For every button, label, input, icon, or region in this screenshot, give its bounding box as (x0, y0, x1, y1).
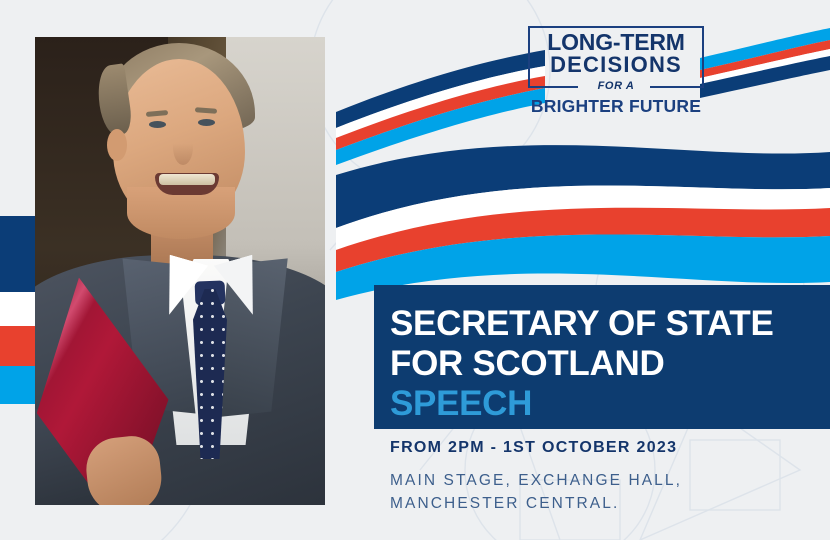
title-line-3: SPEECH (390, 386, 532, 421)
announcement-graphic: LONG-TERM DECISIONS FOR A BRIGHTER FUTUR… (0, 0, 830, 540)
photo-eye-right (198, 119, 215, 126)
event-venue-line-2: MANCHESTER CENTRAL. (390, 492, 682, 515)
event-time-date: FROM 2PM - 1ST OCTOBER 2023 (390, 440, 682, 456)
title-line-1: SECRETARY OF STATE (390, 306, 774, 341)
ribbon-upper-right (700, 28, 830, 98)
ribbon-centre-main (336, 145, 830, 300)
photo-nose (173, 129, 193, 165)
speaker-portrait-photo (35, 37, 325, 505)
title-line-2: FOR SCOTLAND (390, 346, 664, 381)
photo-teeth (159, 174, 215, 185)
logo-line-1: LONG-TERM (528, 31, 704, 54)
logo-connector: FOR A (528, 81, 704, 92)
photo-ear (107, 129, 127, 161)
photo-mouth (155, 173, 219, 195)
event-details: FROM 2PM - 1ST OCTOBER 2023 MAIN STAGE, … (390, 440, 682, 516)
event-venue-line-1: MAIN STAGE, EXCHANGE HALL, (390, 469, 682, 492)
campaign-logo: LONG-TERM DECISIONS FOR A BRIGHTER FUTUR… (528, 26, 704, 112)
title-panel: SECRETARY OF STATE FOR SCOTLAND SPEECH (374, 285, 830, 429)
logo-line-2: DECISIONS (528, 54, 704, 76)
photo-eye-left (149, 121, 166, 128)
ribbon-upper-left (336, 50, 545, 165)
logo-line-3: BRIGHTER FUTURE (528, 98, 704, 116)
